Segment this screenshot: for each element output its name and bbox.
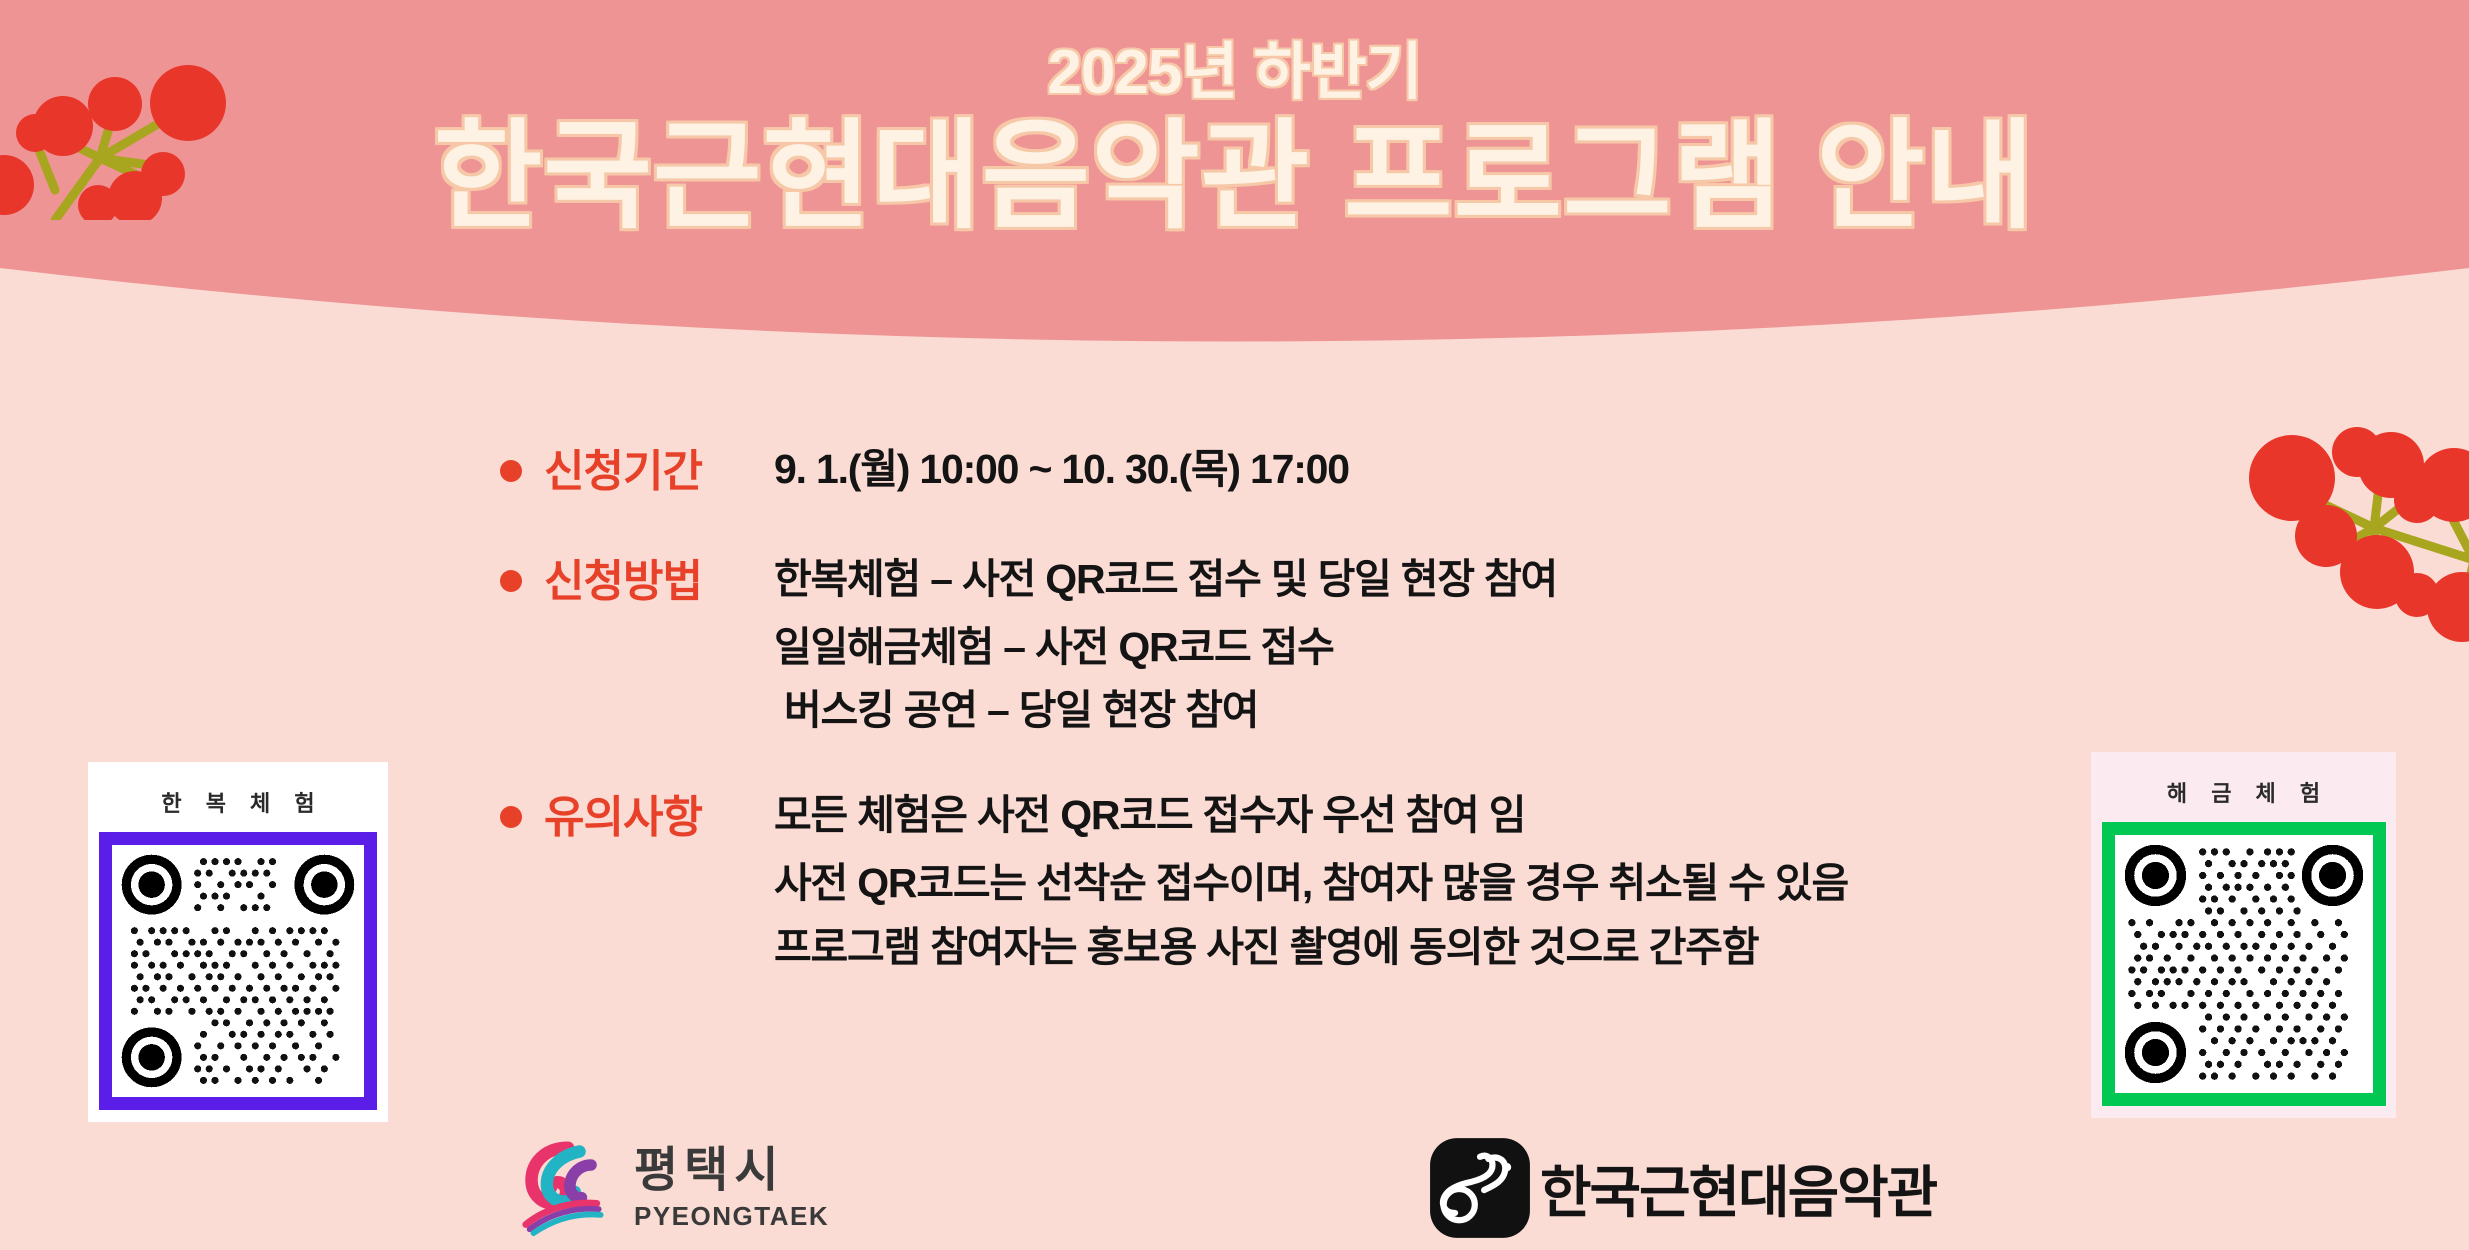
qr-card-hanbok[interactable]: 한 복 체 험 xyxy=(88,762,388,1122)
qr-code-haegeum-icon[interactable] xyxy=(2115,835,2373,1093)
section-notes: 유의사항 모든 체험은 사전 QR코드 접수자 우선 참여 임 사전 QR코드는… xyxy=(500,786,2060,977)
section-subrow: 버스킹 공연 – 당일 현장 참여 xyxy=(500,681,2060,740)
logo-music-museum: 한국근현대음악관 xyxy=(1428,1136,1936,1240)
section-row: 신청방법 한복체험 – 사전 QR코드 접수 및 당일 현장 참여 xyxy=(500,550,2060,614)
section-label: 신청기간 xyxy=(544,440,774,504)
qr-frame xyxy=(2102,822,2386,1106)
section-subrow: 사전 QR코드는 선착순 접수이며, 참여자 많을 경우 취소될 수 있음 xyxy=(500,854,2060,913)
section-value: 일일해금체험 – 사전 QR코드 접수 xyxy=(774,618,1334,677)
pyeongtaek-korean-name: 평택시 xyxy=(634,1147,829,1195)
qr-card-haegeum[interactable]: 해 금 체 험 xyxy=(2091,752,2396,1118)
poster-title: 한국근현대음악관 프로그램 안내 xyxy=(434,111,2035,243)
pyeongtaek-wordmark: 평택시 PYEONGTAEK xyxy=(634,1147,829,1229)
section-value: 사전 QR코드는 선착순 접수이며, 참여자 많을 경우 취소될 수 있음 xyxy=(774,854,1848,913)
indent-spacer xyxy=(500,681,784,740)
section-value: 프로그램 참여자는 홍보용 사진 촬영에 동의한 것으로 간주함 xyxy=(774,918,1758,977)
indent-spacer xyxy=(500,618,774,677)
bullet-icon xyxy=(500,570,522,592)
content-block: 신청기간 9. 1.(월) 10:00 ~ 10. 30.(목) 17:00 신… xyxy=(500,440,2060,981)
qr-title: 해 금 체 험 xyxy=(2158,762,2329,822)
pyeongtaek-swirl-icon xyxy=(520,1140,616,1236)
qr-code-hanbok-icon[interactable] xyxy=(112,845,364,1097)
section-subrow: 프로그램 참여자는 홍보용 사진 촬영에 동의한 것으로 간주함 xyxy=(500,918,2060,977)
sori-badge-icon xyxy=(1428,1136,1532,1240)
section-value: 한복체험 – 사전 QR코드 접수 및 당일 현장 참여 xyxy=(774,550,1557,609)
pyeongtaek-english-name: PYEONGTAEK xyxy=(634,1203,829,1229)
section-subrow: 일일해금체험 – 사전 QR코드 접수 xyxy=(500,618,2060,677)
bullet-icon xyxy=(500,460,522,482)
qr-frame xyxy=(99,832,377,1110)
section-application-period: 신청기간 9. 1.(월) 10:00 ~ 10. 30.(목) 17:00 xyxy=(500,440,2060,504)
indent-spacer xyxy=(500,854,774,913)
section-label: 유의사항 xyxy=(544,786,774,850)
qr-title: 한 복 체 험 xyxy=(152,772,323,832)
poster-root: 2025년 하반기 한국근현대음악관 프로그램 안내 신청기간 9. 1.(월)… xyxy=(0,0,2469,1250)
section-value: 9. 1.(월) 10:00 ~ 10. 30.(목) 17:00 xyxy=(774,440,1349,499)
section-row: 유의사항 모든 체험은 사전 QR코드 접수자 우선 참여 임 xyxy=(500,786,2060,850)
logo-pyeongtaek-city: 평택시 PYEONGTAEK xyxy=(520,1140,829,1236)
berry-branch-right-icon xyxy=(2249,420,2469,655)
museum-name-label: 한국근현대음악관 xyxy=(1540,1148,1936,1229)
indent-spacer xyxy=(500,918,774,977)
poster-subtitle: 2025년 하반기 xyxy=(1047,40,1421,105)
section-label: 신청방법 xyxy=(544,550,774,614)
section-application-method: 신청방법 한복체험 – 사전 QR코드 접수 및 당일 현장 참여 일일해금체험… xyxy=(500,550,2060,741)
bullet-icon xyxy=(500,806,522,828)
section-row: 신청기간 9. 1.(월) 10:00 ~ 10. 30.(목) 17:00 xyxy=(500,440,2060,504)
section-value: 모든 체험은 사전 QR코드 접수자 우선 참여 임 xyxy=(774,786,1525,845)
header-text-block: 2025년 하반기 한국근현대음악관 프로그램 안내 xyxy=(0,0,2469,320)
section-value: 버스킹 공연 – 당일 현장 참여 xyxy=(784,681,1258,740)
